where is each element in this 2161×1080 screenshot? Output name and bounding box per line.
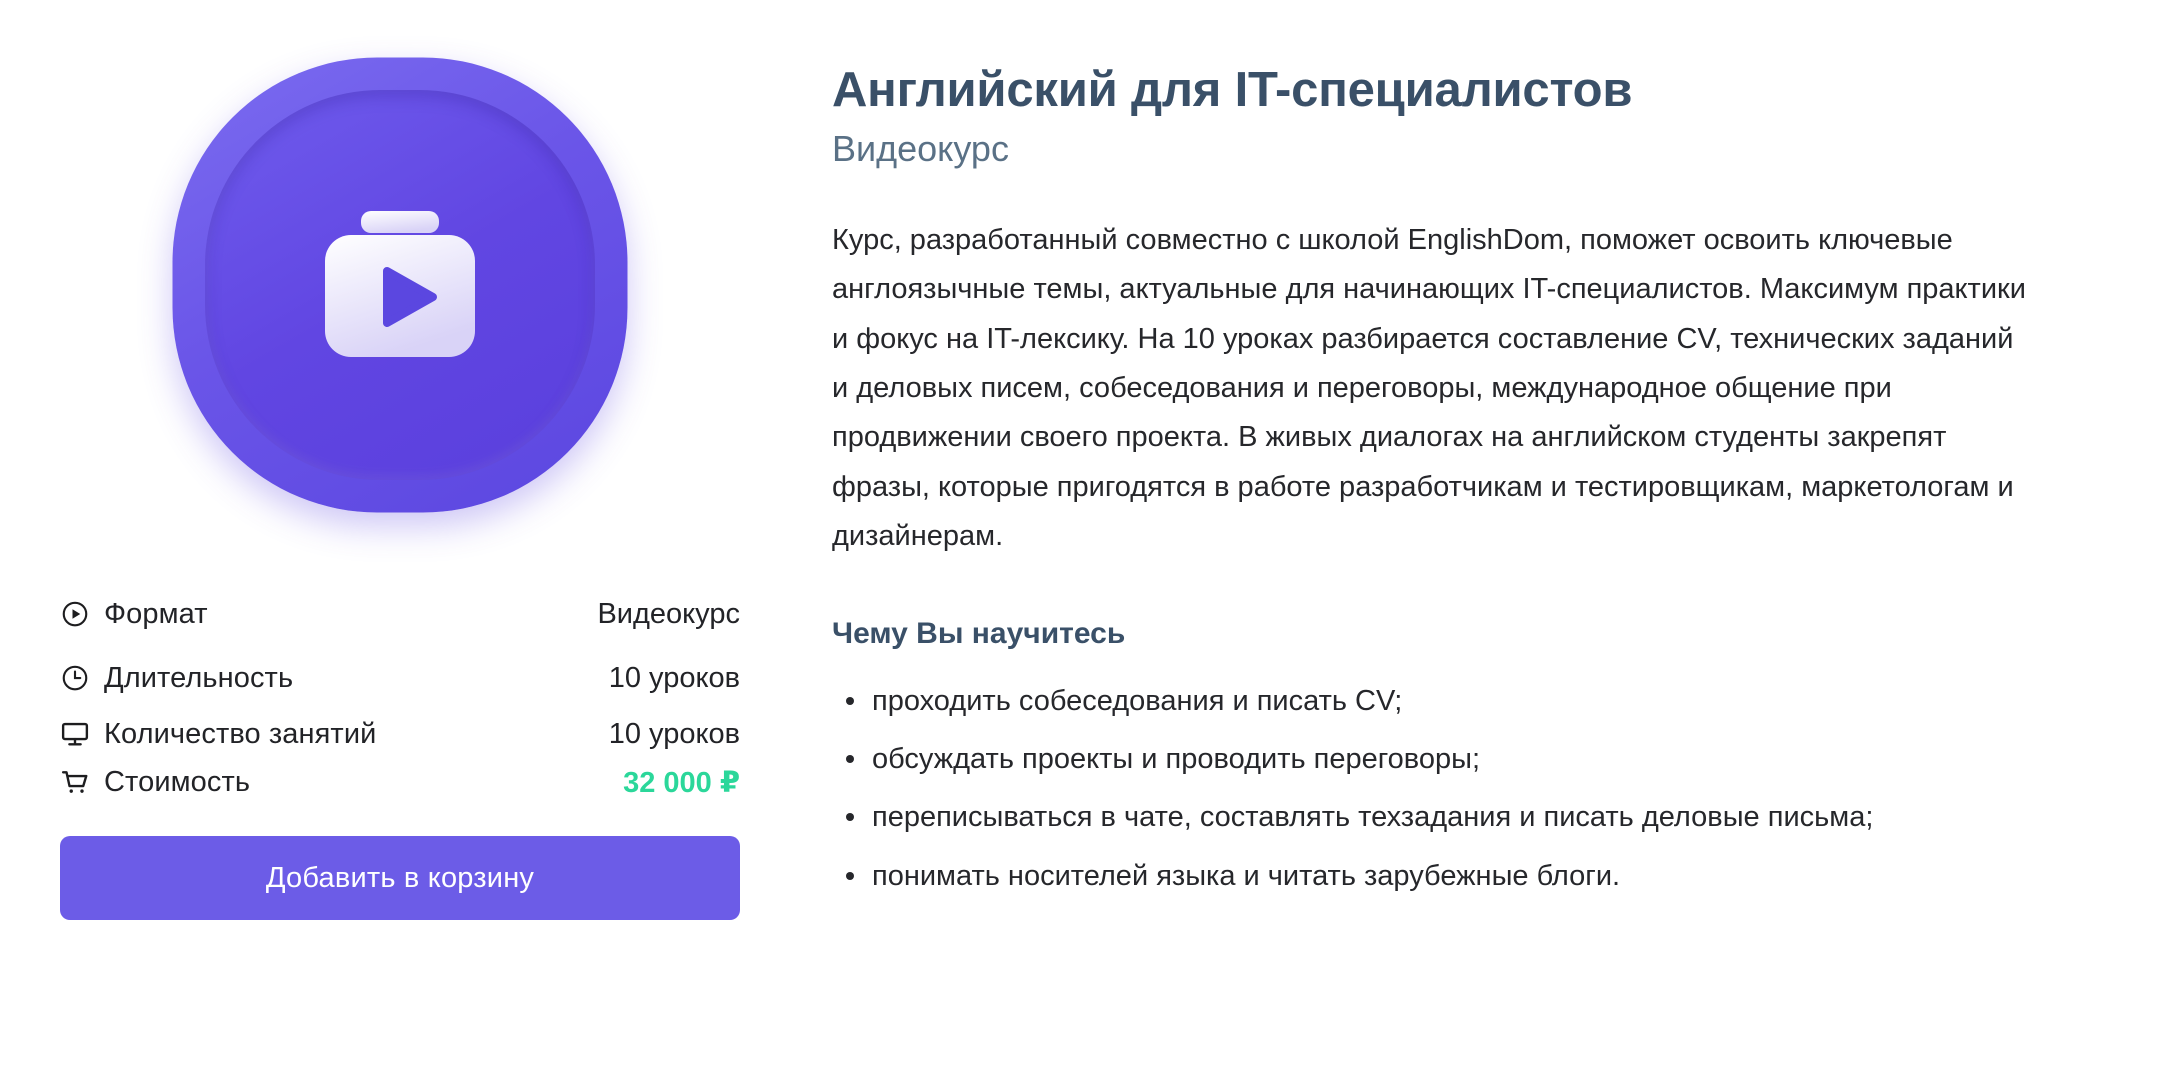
spec-label: Стоимость — [104, 766, 623, 799]
course-cover-badge — [155, 40, 645, 530]
page-title: Английский для IT-специалистов — [832, 62, 2102, 119]
spec-label: Формат — [104, 598, 597, 631]
course-spec-list: Формат Видеокурс Длительность 10 уроков — [60, 582, 740, 806]
spec-row-lessons: Количество занятий 10 уроков — [60, 710, 740, 758]
add-to-cart-button[interactable]: Добавить в корзину — [60, 836, 740, 920]
spec-label: Длительность — [104, 662, 609, 695]
shopping-cart-icon — [60, 767, 104, 797]
clock-icon — [60, 663, 104, 693]
spec-label: Количество занятий — [104, 718, 609, 751]
play-circle-icon — [60, 599, 104, 629]
learn-outcomes-list: проходить собеседования и писать CV; обс… — [832, 681, 2102, 914]
list-item: понимать носителей языка и читать зарубе… — [872, 856, 2102, 914]
course-description: Курс, разработанный совместно с школой E… — [832, 216, 2032, 561]
list-item: проходить собеседования и писать CV; — [872, 681, 2102, 739]
monitor-icon — [60, 719, 104, 749]
course-details: Английский для IT-специалистов Видеокурс… — [832, 62, 2102, 914]
course-card-page: Формат Видеокурс Длительность 10 уроков — [0, 0, 2161, 1080]
list-item: обсуждать проекты и проводить переговоры… — [872, 739, 2102, 797]
spec-row-duration: Длительность 10 уроков — [60, 646, 740, 710]
spec-row-format: Формат Видеокурс — [60, 582, 740, 646]
course-subtitle: Видеокурс — [832, 127, 2102, 170]
spec-row-price: Стоимость 32 000 ₽ — [60, 758, 740, 806]
spec-value-price: 32 000 ₽ — [623, 765, 740, 800]
spec-value: 10 уроков — [609, 718, 740, 751]
course-sidebar: Формат Видеокурс Длительность 10 уроков — [60, 40, 740, 920]
video-briefcase-play-icon — [305, 205, 495, 365]
list-item: переписываться в чате, составлять техзад… — [872, 797, 2102, 855]
spec-value: 10 уроков — [609, 662, 740, 695]
spec-value: Видеокурс — [597, 598, 740, 631]
learn-section-heading: Чему Вы научитесь — [832, 617, 2102, 651]
